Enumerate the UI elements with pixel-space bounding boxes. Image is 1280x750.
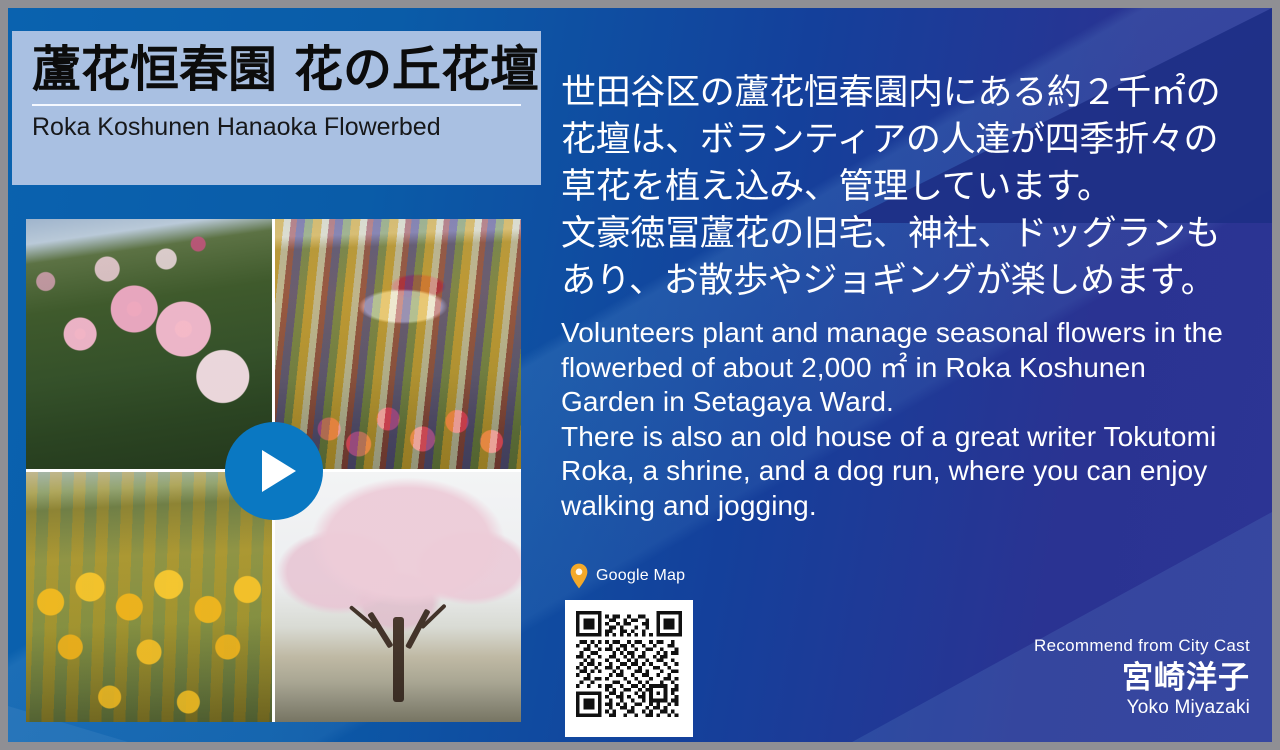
page-title-romanized: Roka Koshunen Hanaoka Flowerbed xyxy=(32,112,521,142)
qr-code-image xyxy=(576,611,682,717)
photo-flowerbed-tulips xyxy=(275,219,521,469)
description-english: Volunteers plant and manage seasonal flo… xyxy=(561,316,1272,523)
credit-name-japanese: 宮崎洋子 xyxy=(830,662,1250,695)
credit-block: Recommend from City Cast 宮崎洋子 Yoko Miyaz… xyxy=(830,636,1250,719)
tree-trunk xyxy=(393,617,404,702)
google-map-label: Google Map xyxy=(596,567,685,585)
photo-cosmos-flowers xyxy=(26,219,272,469)
location-pin-icon xyxy=(570,563,588,589)
description-japanese: 世田谷区の蘆花恒春園内にある約２千㎡の 花壇は、ボランティアの人達が四季折々の … xyxy=(561,70,1272,305)
play-button[interactable] xyxy=(225,422,323,520)
credit-label: Recommend from City Cast xyxy=(830,636,1250,656)
poster-root: 蘆花恒春園 花の丘花壇 Roka Koshunen Hanaoka Flower… xyxy=(0,0,1280,750)
photo-cherry-blossom-tree xyxy=(275,472,521,722)
title-divider xyxy=(32,104,521,106)
qr-code[interactable] xyxy=(565,600,693,737)
google-map-link[interactable]: Google Map xyxy=(570,563,685,589)
page-title-japanese: 蘆花恒春園 花の丘花壇 xyxy=(32,43,521,98)
play-triangle-icon xyxy=(262,450,296,492)
photo-sunflower-field xyxy=(26,472,272,722)
video-thumbnail[interactable] xyxy=(26,219,521,722)
credit-name-romanized: Yoko Miyazaki xyxy=(830,697,1250,719)
poster-canvas: 蘆花恒春園 花の丘花壇 Roka Koshunen Hanaoka Flower… xyxy=(8,8,1272,742)
title-panel: 蘆花恒春園 花の丘花壇 Roka Koshunen Hanaoka Flower… xyxy=(12,31,541,185)
